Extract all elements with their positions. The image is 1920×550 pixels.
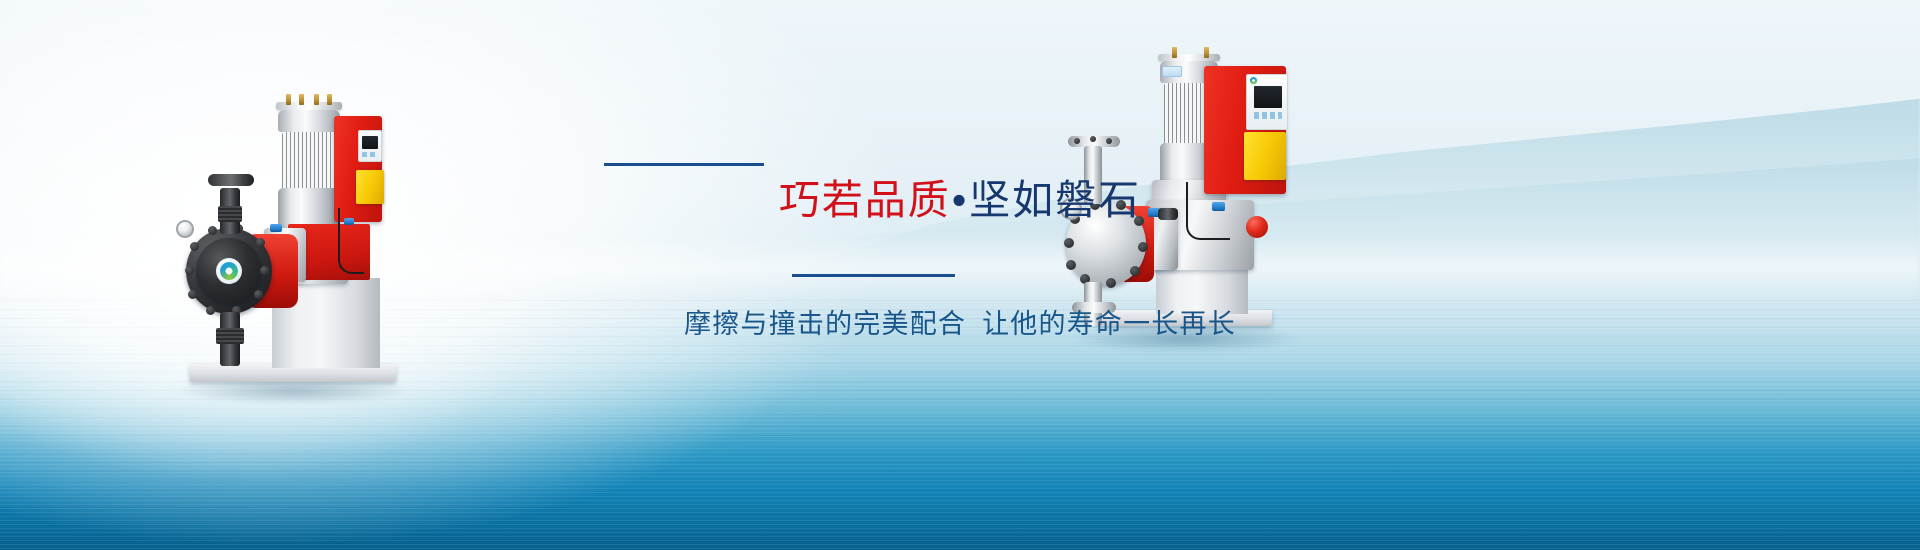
right-pump-inlet-pipe bbox=[1084, 146, 1102, 204]
right-pump-panel-logo bbox=[1249, 76, 1258, 85]
left-pump-head-bolt bbox=[185, 266, 194, 275]
left-pump-pressure-gauge bbox=[176, 220, 194, 238]
right-pump-head-bolt bbox=[1116, 200, 1126, 210]
right-pump-head-bolt bbox=[1138, 242, 1148, 252]
logo-swirl-icon bbox=[1250, 77, 1256, 83]
left-pump-motor-cap bbox=[278, 110, 340, 132]
right-pump-lcd-display bbox=[1254, 86, 1282, 108]
left-pump-valve-body bbox=[218, 206, 242, 222]
right-pump-junction-box bbox=[1244, 132, 1286, 180]
right-pump-head-bolt bbox=[1106, 278, 1116, 288]
left-pump-head-bolt bbox=[188, 290, 197, 299]
right-pump-brass-bolt bbox=[1172, 47, 1177, 58]
left-pump-motor-fins bbox=[282, 132, 336, 190]
left-pump-head-bolt bbox=[256, 238, 265, 247]
right-pump-flange-bolt bbox=[1074, 138, 1080, 144]
left-pump-brass-bolt bbox=[314, 94, 319, 105]
product-image-right-pump bbox=[1060, 30, 1305, 350]
left-pump-head-bolt bbox=[260, 266, 269, 275]
hero-banner: 巧若品质•坚如磐石 摩擦与撞击的完美配合让他的寿命一长再长 bbox=[0, 0, 1920, 550]
right-pump-shadow bbox=[1070, 326, 1300, 352]
right-pump-brass-bolt bbox=[1204, 47, 1209, 58]
left-pump-outlet-valve bbox=[216, 328, 244, 344]
right-pump-head-bolt bbox=[1134, 216, 1144, 226]
logo-swirl-icon bbox=[220, 262, 238, 280]
left-pump-head-bolt bbox=[206, 306, 215, 315]
product-image-left-pump bbox=[168, 78, 418, 398]
left-pump-lcd-display bbox=[362, 136, 378, 149]
left-pump-inlet-flange bbox=[208, 174, 254, 186]
right-pump-nameplate bbox=[1162, 66, 1182, 77]
left-pump-junction-box bbox=[356, 170, 384, 204]
left-pump-brass-bolt bbox=[286, 94, 291, 105]
right-pump-relief-valve-knob bbox=[1246, 216, 1268, 238]
left-pump-keypad bbox=[362, 152, 378, 157]
right-pump-motor-top-plate bbox=[1158, 54, 1220, 61]
right-pump-pressure-gauge bbox=[1060, 198, 1082, 220]
left-pump-head-bolt bbox=[190, 242, 199, 251]
right-pump-head-bolt bbox=[1066, 260, 1076, 270]
left-pump-brand-logo bbox=[216, 258, 242, 284]
left-pump-blue-fitting bbox=[344, 218, 354, 225]
right-pump-blue-fitting bbox=[1212, 202, 1225, 211]
right-pump-flange-bolt bbox=[1090, 136, 1096, 142]
left-pump-brass-bolt bbox=[299, 94, 304, 105]
right-pump-cable bbox=[1186, 182, 1230, 240]
left-pump-brass-bolt bbox=[327, 94, 332, 105]
right-pump-sensor-fitting bbox=[1158, 208, 1178, 220]
left-pump-head-bolt bbox=[208, 226, 217, 235]
right-pump-outlet-flange bbox=[1072, 302, 1116, 313]
right-pump-flange-bolt bbox=[1106, 138, 1112, 144]
left-pump-blue-fitting bbox=[270, 224, 282, 232]
left-pump-head-bolt bbox=[254, 290, 263, 299]
right-pump-head-bolt bbox=[1130, 266, 1140, 276]
right-pump-keypad bbox=[1254, 112, 1282, 119]
right-pump-head-bolt bbox=[1064, 238, 1074, 248]
